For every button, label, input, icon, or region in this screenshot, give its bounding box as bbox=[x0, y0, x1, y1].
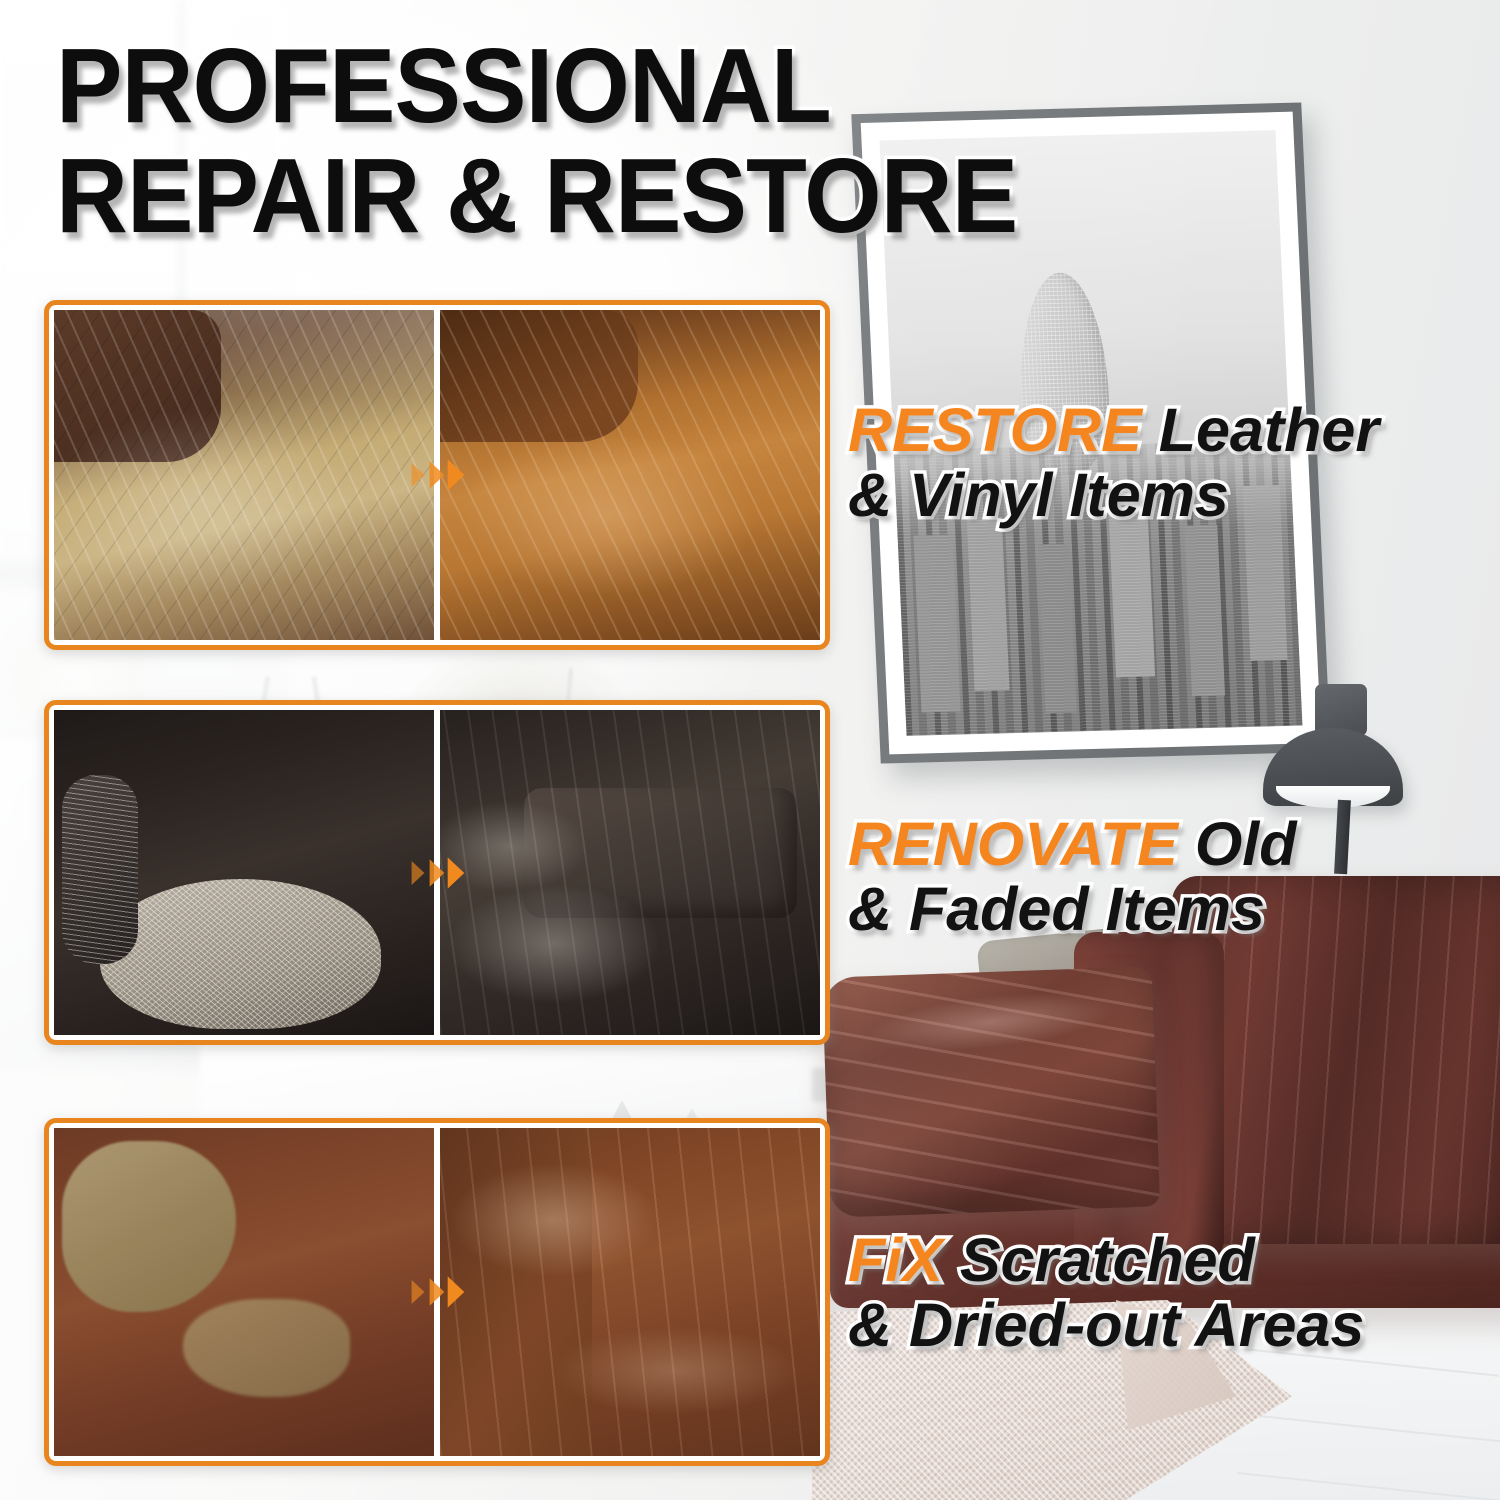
feature-restore-line-2: & Vinyl Items bbox=[848, 463, 1379, 528]
comparison-panel-tan-leather-sofa bbox=[44, 300, 830, 650]
feature-fix: FiX Scratched & Dried-out Areas bbox=[848, 1228, 1364, 1359]
feature-fix-keyword: FiX bbox=[848, 1226, 943, 1294]
feature-fix-rest: Scratched bbox=[943, 1226, 1255, 1294]
feature-renovate-rest: Old bbox=[1178, 810, 1297, 878]
feature-renovate-line-1: RENOVATE Old bbox=[848, 812, 1296, 877]
feature-restore-line-1: RESTORE Leather bbox=[848, 398, 1379, 463]
feature-fix-line-2: & Dried-out Areas bbox=[848, 1293, 1364, 1358]
headline-line-2: REPAIR & RESTORE bbox=[56, 146, 1165, 248]
before-image-dark-recliner bbox=[54, 710, 434, 1035]
feature-restore: RESTORE Leather & Vinyl Items bbox=[848, 398, 1379, 529]
feature-restore-rest: Leather bbox=[1142, 396, 1379, 464]
panel-inner bbox=[54, 310, 820, 640]
feature-renovate: RENOVATE Old & Faded Items bbox=[848, 812, 1296, 943]
headline-line-1: PROFESSIONAL bbox=[56, 36, 1165, 138]
feature-renovate-keyword: RENOVATE bbox=[848, 810, 1178, 878]
headline: PROFESSIONAL REPAIR & RESTORE bbox=[56, 36, 1236, 248]
before-image-brown-sofa bbox=[54, 1128, 434, 1456]
panel-inner bbox=[54, 1128, 820, 1456]
after-image-tan-sofa bbox=[440, 310, 820, 640]
product-infographic: PROFESSIONAL REPAIR & RESTORE bbox=[0, 0, 1500, 1500]
comparison-panel-brown-leather-sofa bbox=[44, 1118, 830, 1466]
after-image-brown-sofa bbox=[440, 1128, 820, 1456]
feature-restore-keyword: RESTORE bbox=[848, 396, 1142, 464]
after-image-dark-recliner bbox=[440, 710, 820, 1035]
comparison-panel-dark-leather-recliner bbox=[44, 700, 830, 1045]
feature-fix-line-1: FiX Scratched bbox=[848, 1228, 1364, 1293]
before-image-tan-sofa bbox=[54, 310, 434, 640]
feature-renovate-line-2: & Faded Items bbox=[848, 877, 1296, 942]
panel-inner bbox=[54, 710, 820, 1035]
